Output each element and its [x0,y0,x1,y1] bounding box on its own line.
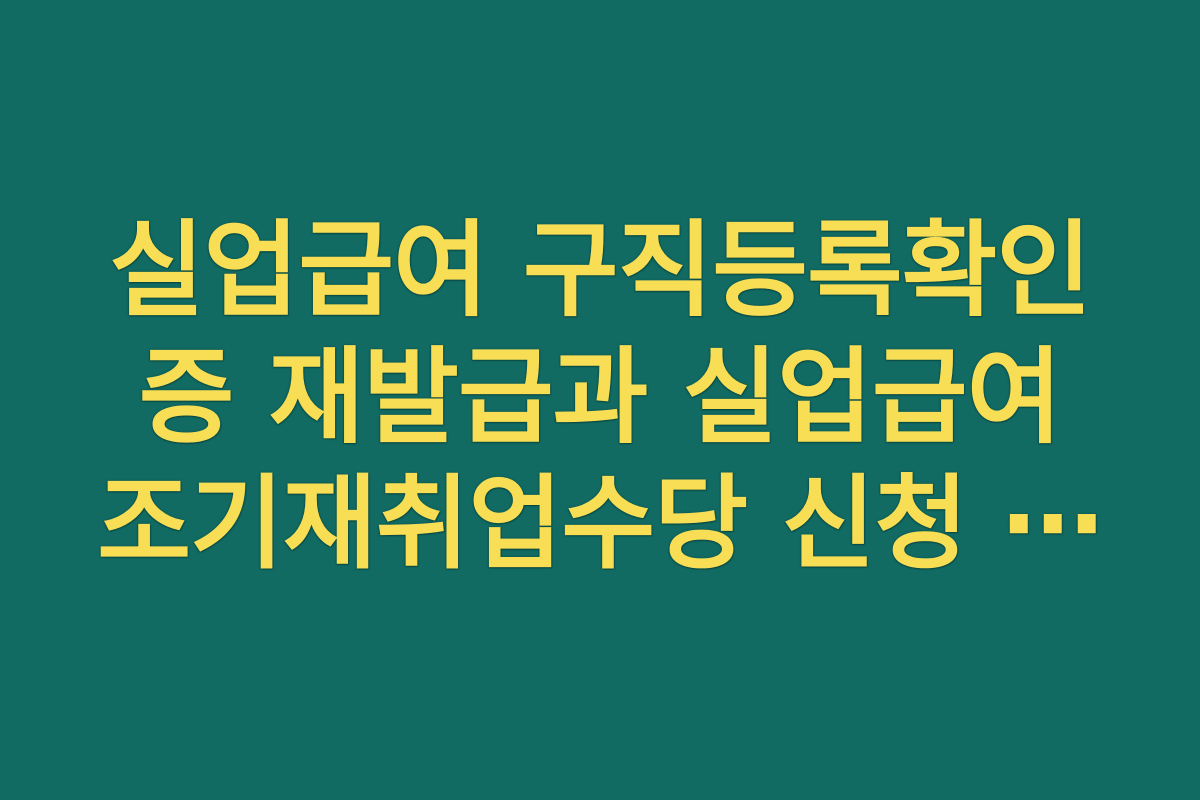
headline-line-2: 증 재발급과 실업급여 [95,334,1105,461]
page-title: 실업급여 구직등록확인 증 재발급과 실업급여 조기재취업수당 신청 ⋯ [95,207,1105,588]
thumbnail-card: 실업급여 구직등록확인 증 재발급과 실업급여 조기재취업수당 신청 ⋯ [0,0,1200,800]
headline-line-1: 실업급여 구직등록확인 [95,207,1105,334]
headline-line-3: 조기재취업수당 신청 ⋯ [95,461,1105,588]
